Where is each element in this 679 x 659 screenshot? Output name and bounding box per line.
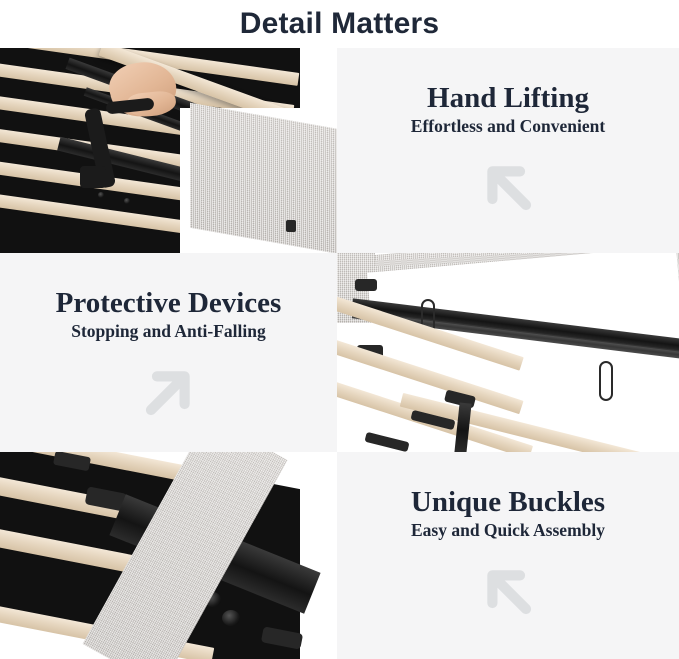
arrow-up-right-icon bbox=[137, 360, 201, 424]
header: Detail Matters bbox=[0, 0, 679, 48]
feature-subheading: Stopping and Anti-Falling bbox=[71, 321, 266, 342]
photo-protective-hooks bbox=[337, 253, 679, 452]
feature-card-unique-buckles: Unique Buckles Easy and Quick Assembly bbox=[337, 452, 679, 659]
buckle-bolt bbox=[222, 610, 240, 626]
feature-subheading: Easy and Quick Assembly bbox=[411, 520, 605, 541]
feature-subheading: Effortless and Convenient bbox=[411, 116, 605, 137]
feature-card-hand-lifting: Hand Lifting Effortless and Convenient bbox=[337, 48, 679, 253]
arrow-up-left-icon bbox=[476, 155, 540, 219]
feature-heading: Protective Devices bbox=[56, 287, 282, 319]
product-detail-graphic: Detail Matters bbox=[0, 0, 679, 659]
photo-hand-lifting bbox=[0, 48, 337, 253]
page-title: Detail Matters bbox=[240, 9, 440, 39]
feature-heading: Unique Buckles bbox=[411, 486, 605, 518]
feature-heading: Hand Lifting bbox=[427, 82, 589, 114]
hand-lifting-illustration bbox=[0, 48, 337, 253]
arrow-up-left-icon bbox=[476, 559, 540, 623]
photo-unique-buckles bbox=[0, 452, 337, 659]
protective-hooks-illustration bbox=[337, 253, 679, 452]
feature-card-protective-devices: Protective Devices Stopping and Anti-Fal… bbox=[0, 253, 337, 452]
wire-hook bbox=[599, 361, 613, 401]
unique-buckles-illustration bbox=[0, 452, 337, 659]
feature-grid: Hand Lifting Effortless and Convenient P… bbox=[0, 48, 679, 659]
